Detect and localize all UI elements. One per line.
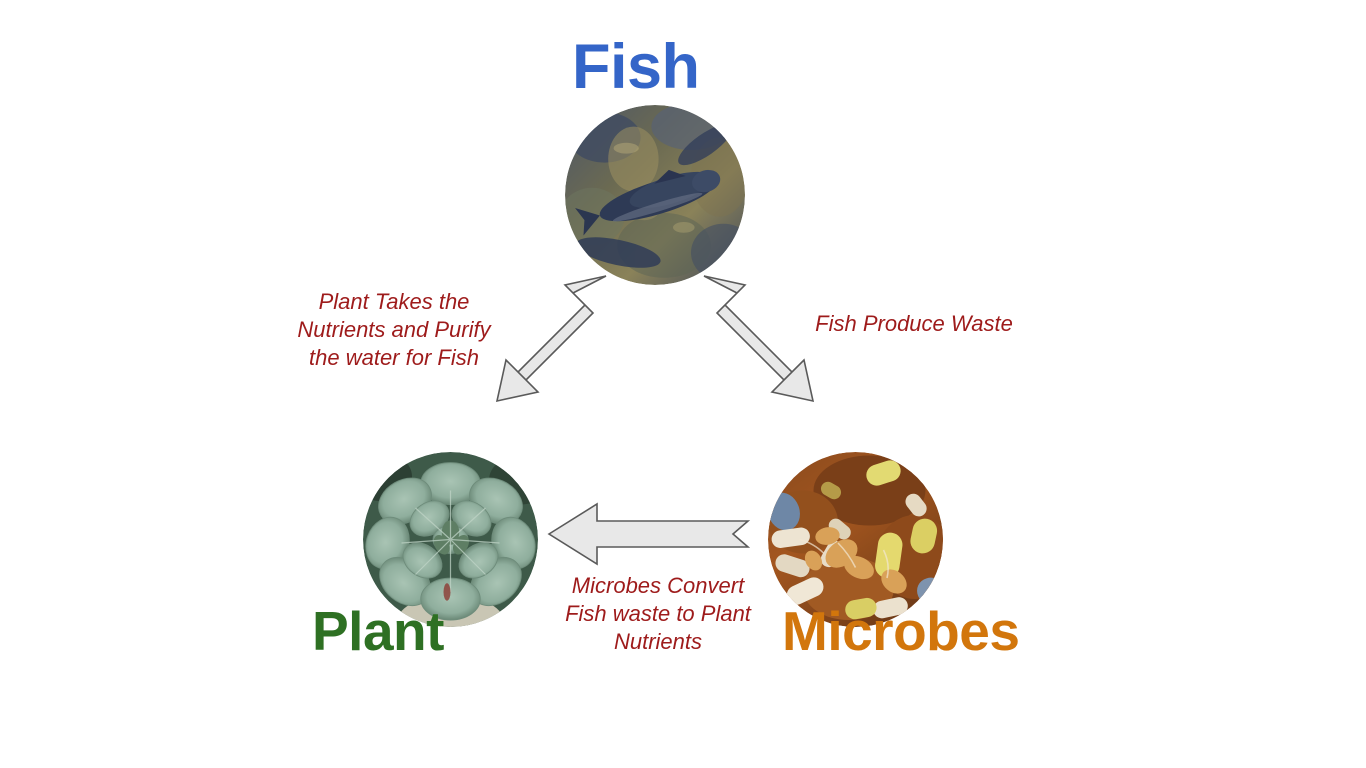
arrow-microbes-to-plant [549, 504, 748, 564]
node-label-fish: Fish [572, 36, 700, 99]
arrow-fish-to-microbes [704, 276, 813, 401]
diagram-canvas: Fish [0, 0, 1366, 768]
node-label-plant: Plant [312, 604, 444, 659]
node-image-fish [565, 105, 745, 285]
annotation-fish-to-microbes: Fish Produce Waste [780, 310, 1048, 338]
node-label-microbes: Microbes [782, 604, 1019, 659]
annotation-plant-to-fish: Plant Takes the Nutrients and Purify the… [262, 288, 526, 372]
annotation-microbes-to-plant: Microbes Convert Fish waste to Plant Nut… [528, 572, 788, 656]
fish-photo [565, 105, 745, 285]
